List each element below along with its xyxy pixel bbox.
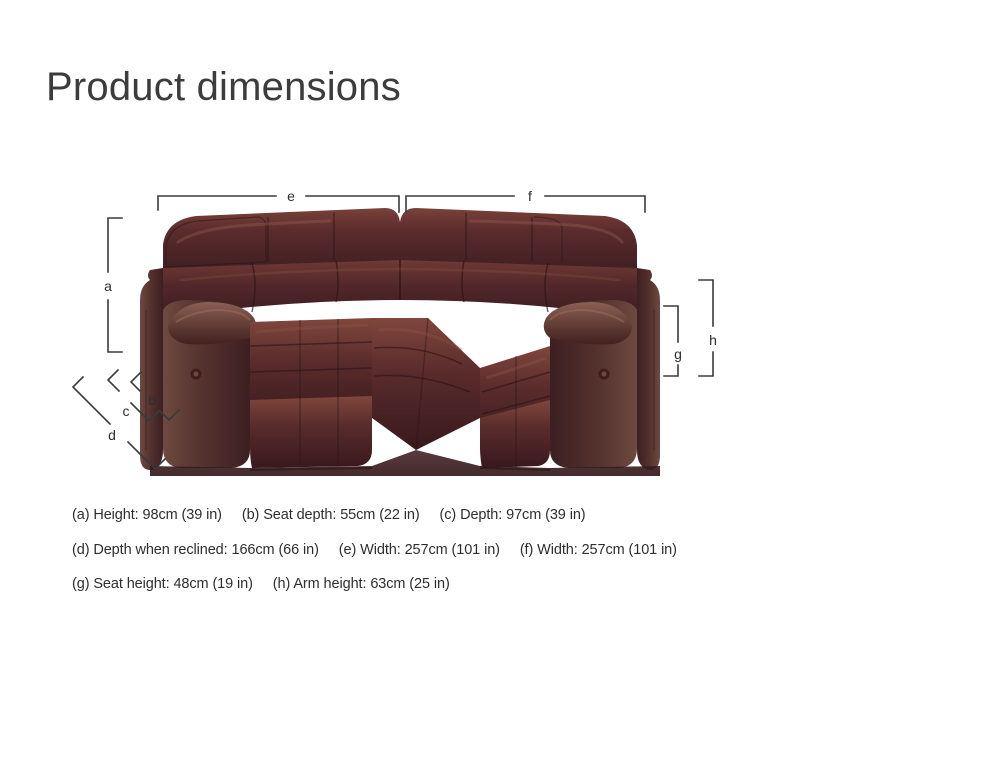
marker-label-c: c <box>123 403 130 419</box>
legend-line: (g) Seat height: 48cm (19 in) (h) Arm he… <box>72 577 932 592</box>
legend-item-h: (h) Arm height: 63cm (25 in) <box>273 576 450 592</box>
product-dimensions-page: Product dimensions <box>0 0 1005 765</box>
product-dimension-diagram: e f a g h b c d <box>0 150 1005 500</box>
legend-item-b: (b) Seat depth: 55cm (22 in) <box>242 507 420 523</box>
marker-label-f: f <box>528 188 532 204</box>
marker-label-a: a <box>104 278 112 294</box>
legend-item-a: (a) Height: 98cm (39 in) <box>72 507 222 523</box>
legend-item-f: (f) Width: 257cm (101 in) <box>520 542 677 558</box>
marker-label-g: g <box>674 346 682 362</box>
dimension-marker-h <box>699 280 713 376</box>
sofa-illustration <box>140 208 660 476</box>
legend-item-g: (g) Seat height: 48cm (19 in) <box>72 576 253 592</box>
legend-item-e: (e) Width: 257cm (101 in) <box>339 542 500 558</box>
diagram-svg: e f a g h b c d <box>0 150 1005 500</box>
legend-item-d: (d) Depth when reclined: 166cm (66 in) <box>72 542 319 558</box>
legend-line: (a) Height: 98cm (39 in) (b) Seat depth:… <box>72 508 932 523</box>
sofa-right-arm <box>637 268 660 470</box>
marker-label-d: d <box>108 427 116 443</box>
sofa-seat-corner <box>372 318 480 450</box>
marker-label-e: e <box>287 188 295 204</box>
sofa-seat-right <box>480 346 550 468</box>
sofa-left-arm <box>140 268 163 470</box>
page-title: Product dimensions <box>46 63 401 111</box>
sofa-seat-left <box>250 318 372 468</box>
dimension-marker-g <box>664 306 678 376</box>
dimension-legend: (a) Height: 98cm (39 in) (b) Seat depth:… <box>72 508 932 592</box>
marker-label-h: h <box>709 332 717 348</box>
sofa-backrest-right <box>400 208 637 270</box>
sofa-backrest-left <box>163 208 400 270</box>
legend-item-c: (c) Depth: 97cm (39 in) <box>440 507 586 523</box>
legend-line: (d) Depth when reclined: 166cm (66 in) (… <box>72 543 932 558</box>
marker-label-b: b <box>148 392 156 408</box>
